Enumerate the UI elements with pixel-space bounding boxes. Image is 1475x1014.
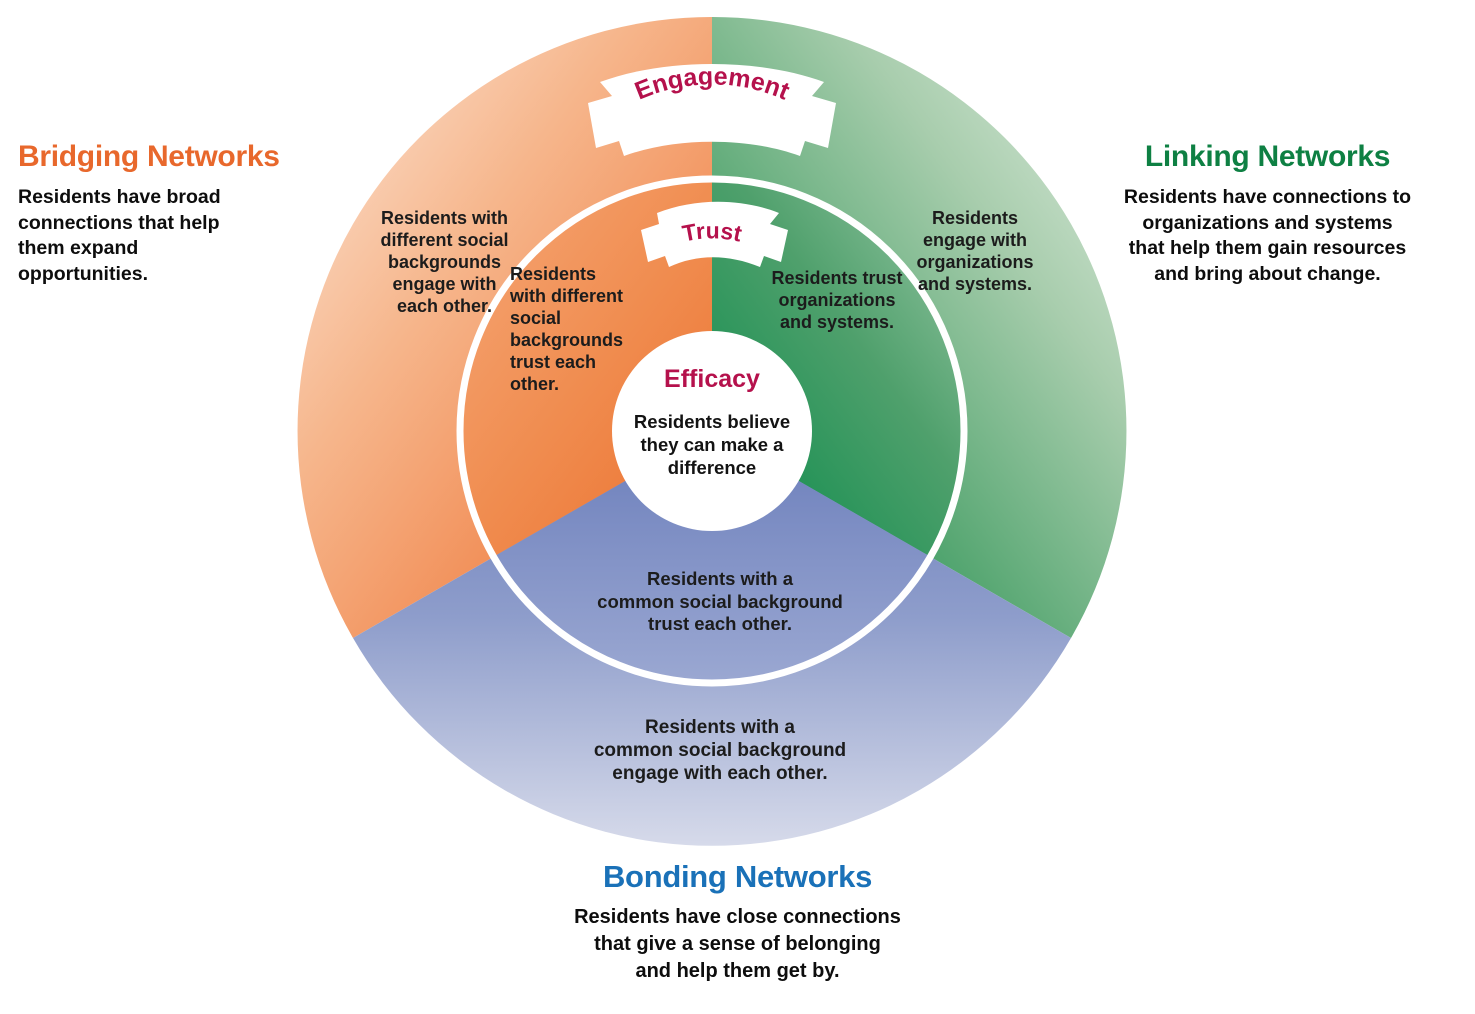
linking-outer-ring-text: Residents engage with organizations and … bbox=[880, 208, 1070, 296]
bridging-inner-ring-text: Residents with different social backgrou… bbox=[510, 264, 642, 396]
efficacy-title: Efficacy bbox=[664, 365, 760, 394]
linking-networks-description: Residents have connections to organizati… bbox=[1070, 185, 1465, 288]
bonding-inner-ring-text: Residents with a common social backgroun… bbox=[560, 568, 880, 636]
bridging-networks-block: Bridging Networks Residents have broad c… bbox=[18, 140, 288, 288]
diagram-canvas: Engagement Trust Efficacy Residents beli… bbox=[0, 0, 1475, 1014]
bridging-networks-description: Residents have broad connections that he… bbox=[18, 185, 288, 288]
linking-networks-title: Linking Networks bbox=[1070, 140, 1465, 173]
bridging-networks-title: Bridging Networks bbox=[18, 140, 288, 173]
bonding-outer-ring-text: Residents with a common social backgroun… bbox=[555, 716, 885, 786]
bonding-networks-block: Bonding Networks Residents have close co… bbox=[0, 860, 1475, 986]
bridging-outer-ring-text: Residents with different social backgrou… bbox=[362, 208, 527, 318]
efficacy-body: Residents believe they can make a differ… bbox=[634, 410, 790, 479]
efficacy-hub: Efficacy Residents believe they can make… bbox=[612, 331, 812, 531]
bonding-networks-title: Bonding Networks bbox=[0, 860, 1475, 894]
linking-networks-block: Linking Networks Residents have connecti… bbox=[1070, 140, 1465, 288]
bonding-networks-description: Residents have close connections that gi… bbox=[0, 904, 1475, 986]
